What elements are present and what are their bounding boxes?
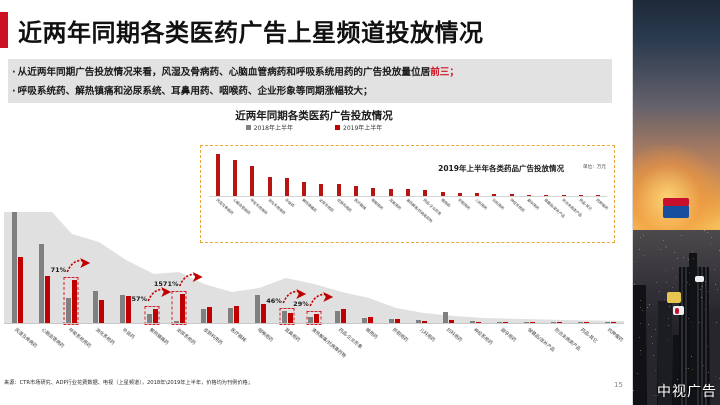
window-light: [676, 276, 677, 277]
window-light: [640, 323, 641, 324]
window-light: [637, 373, 638, 374]
inset-bar-group: [330, 152, 347, 196]
brand-watermark: 中视广告: [657, 381, 717, 401]
window-light: [653, 355, 654, 356]
x-axis-label: 肝胆用药: [381, 326, 408, 372]
billboard-blue: [663, 205, 689, 218]
window-light: [699, 322, 700, 323]
source-footnote: 来源：CTR市场研究、ADP行业花费数据、电视（上星频道），2018年\2019…: [4, 379, 253, 386]
window-light: [677, 258, 678, 259]
x-axis-label: 耳鼻用药: [274, 326, 301, 372]
bar-group: [85, 212, 112, 323]
billboard-white-2: [695, 276, 704, 282]
bullet-marker-icon-2: ·: [12, 86, 16, 97]
window-light: [674, 252, 675, 253]
inset-bar-group: [417, 152, 434, 196]
inset-bar-group: [486, 152, 503, 196]
inset-bar-group: [572, 152, 589, 196]
growth-pct-label: 1571%: [154, 280, 179, 288]
window-light: [688, 368, 689, 369]
inset-x-axis-label-text: 抗肿瘤药: [595, 198, 609, 211]
x-axis-label: 保健品/滋补产品: [516, 326, 543, 372]
window-light: [692, 251, 693, 252]
bar-group: [408, 212, 435, 323]
x-axis-label: 药品-企业形象: [327, 326, 354, 372]
inset-bar-group: [451, 152, 468, 196]
bar-group: [597, 212, 624, 323]
inset-bar: [302, 182, 306, 196]
bar-group: [327, 212, 354, 323]
inset-bar-group: [590, 152, 607, 196]
inset-bar-group: [244, 152, 261, 196]
growth-pct-label: 57%: [131, 295, 147, 303]
window-light: [705, 281, 706, 282]
x-axis-label-text: 补益药: [121, 327, 135, 340]
sunset-glow: [633, 145, 720, 235]
inset-bar: [319, 184, 323, 196]
x-axis-label: 神经系统药: [462, 326, 489, 372]
main-x-axis-labels: 风湿及骨病药心脑血管病药呼吸系统用药消化系统药补益药解热镇痛药泌尿系统药皮肤科用…: [4, 326, 624, 372]
bullet-item-2: ·呼吸系统药、解热镇痛和泌尿系统、耳鼻用药、咽喉药、企业形象等同期涨幅较大；: [12, 82, 606, 101]
window-light: [640, 354, 641, 355]
billboard-red: [663, 198, 689, 206]
x-axis-label: 呼吸系统用药: [58, 326, 85, 372]
page-title: 近两年同期各类医药广告上星频道投放情况: [0, 12, 484, 48]
summary-box: ·从近两年同期广告投放情况来看，风湿及骨病药、心脑血管病药和呼吸系统用药的广告投…: [8, 59, 612, 103]
inset-bar: [354, 186, 358, 196]
bullet-highlight-1: 前三；: [430, 67, 459, 78]
window-light: [691, 356, 692, 357]
x-axis-label-text: 咽喉用药: [256, 327, 274, 343]
window-light: [666, 247, 667, 248]
window-light: [693, 258, 694, 259]
bar-group: 57%: [139, 212, 166, 323]
bar-2019: [234, 306, 239, 323]
inset-bar-group: [399, 152, 416, 196]
x-axis-label-text: 肝胆用药: [391, 327, 409, 343]
bar-2019: [126, 296, 131, 323]
window-light: [704, 309, 705, 310]
window-light: [652, 343, 653, 344]
x-axis-label: 儿科用药: [408, 326, 435, 372]
window-light: [640, 350, 641, 351]
x-axis-label: 抗肿瘤药: [597, 326, 624, 372]
plot-area: 71%57%1571%46%29%: [4, 212, 624, 324]
bullet-text-1: 从近两年同期广告投放情况来看，风湿及骨病药、心脑血管病药和呼吸系统用药的广告投放…: [18, 67, 431, 78]
bullet-item-1: ·从近两年同期广告投放情况来看，风湿及骨病药、心脑血管病药和呼吸系统用药的广告投…: [12, 63, 606, 82]
window-light: [704, 230, 705, 231]
window-light: [640, 300, 641, 301]
bar-2018: [12, 212, 17, 323]
slide-title-text: 近两年同期各类医药广告上星频道投放情况: [18, 13, 484, 48]
x-axis-label: 补益药: [112, 326, 139, 372]
window-light: [675, 278, 676, 279]
inset-bar: [406, 189, 410, 196]
window-light: [672, 268, 673, 269]
inset-bar-group: [295, 152, 312, 196]
x-axis-label: 解热镇痛药: [139, 326, 166, 372]
window-light: [714, 269, 715, 270]
window-light: [708, 372, 709, 373]
growth-pct-label: 46%: [266, 297, 282, 305]
main-axis-line: [4, 323, 624, 324]
window-light: [672, 287, 673, 288]
x-axis-label-text: 耳鼻用药: [283, 327, 301, 343]
x-axis-label: 医疗器械: [220, 326, 247, 372]
inset-bar-group: [382, 152, 399, 196]
window-light: [655, 329, 656, 330]
bullet-text-2: 呼吸系统药、解热镇痛和泌尿系统、耳鼻用药、咽喉药、企业形象等同期涨幅较大；: [18, 86, 373, 97]
bar-group: [489, 212, 516, 323]
window-light: [705, 285, 706, 286]
x-axis-label: 消化系统药: [85, 326, 112, 372]
slide-root: 近两年同期各类医药广告上星频道投放情况 ·从近两年同期广告投放情况来看，风湿及骨…: [0, 0, 720, 405]
inset-bar: [268, 177, 272, 196]
building: [647, 319, 657, 405]
highlight-box: [172, 291, 187, 325]
window-light: [648, 324, 649, 325]
window-light: [651, 336, 652, 337]
window-light: [668, 325, 669, 326]
window-light: [688, 259, 689, 260]
inset-bar: [250, 166, 254, 196]
window-light: [656, 282, 657, 283]
legend-swatch-2018: [246, 125, 251, 130]
window-light: [654, 395, 655, 396]
bullet-marker-icon: ·: [12, 67, 16, 78]
window-light: [659, 291, 660, 292]
window-light: [702, 286, 703, 287]
inset-bar: [233, 160, 237, 196]
inset-bar-group: [209, 152, 226, 196]
window-light: [642, 310, 643, 311]
bar-group: 71%: [58, 212, 85, 323]
inset-bar-group: [347, 152, 364, 196]
inset-bar: [389, 189, 393, 196]
bar-group: [220, 212, 247, 323]
bar-2019: [261, 304, 266, 323]
window-light: [698, 279, 699, 280]
bar-group: 29%: [300, 212, 327, 323]
window-light: [666, 282, 667, 283]
window-light: [689, 284, 690, 285]
window-light: [691, 322, 692, 323]
bar-2018: [39, 244, 44, 323]
bar-group: [354, 212, 381, 323]
bar-2019: [341, 309, 346, 323]
x-axis-label-text: 妇科用药: [445, 327, 463, 343]
bar-group: [4, 212, 31, 323]
legend-label-2018: 2018年上半年: [254, 123, 293, 132]
window-light: [683, 257, 684, 258]
window-light: [633, 390, 634, 391]
bar-group: [381, 212, 408, 323]
x-axis-label-text: 医疗器械: [229, 327, 247, 343]
inset-bar: [285, 178, 289, 196]
window-light: [708, 291, 709, 292]
window-light: [715, 284, 716, 285]
bar-group: [462, 212, 489, 323]
inset-x-axis-label-text: 补益药: [283, 198, 294, 209]
inset-bar-group: [434, 152, 451, 196]
legend-item-2018: 2018年上半年: [246, 123, 293, 132]
x-axis-label: 咽喉用药: [247, 326, 274, 372]
x-axis-label-text: 抗肿瘤药: [607, 327, 625, 343]
window-light: [644, 255, 645, 256]
inset-bar-group: [365, 152, 382, 196]
inset-bar: [337, 184, 341, 196]
legend-label-2019: 2019年上半年: [343, 123, 382, 132]
window-light: [711, 244, 712, 245]
window-light: [707, 346, 708, 347]
growth-pct-label: 29%: [293, 300, 309, 308]
window-light: [692, 326, 693, 327]
bar-2018: [120, 295, 125, 323]
inset-bar: [371, 188, 375, 196]
decorative-city-photo: 中视广告: [633, 0, 720, 405]
window-light: [707, 232, 708, 233]
window-light: [681, 235, 682, 236]
window-light: [711, 237, 712, 238]
x-axis-label: 泌尿系统药: [166, 326, 193, 372]
bar-2019: [45, 276, 50, 323]
window-light: [709, 257, 710, 258]
legend-swatch-2019: [335, 125, 340, 130]
window-light: [681, 299, 682, 300]
inset-x-axis-label-text: 眼用药: [439, 198, 450, 209]
window-light: [668, 318, 669, 319]
bar-2018: [93, 291, 98, 323]
window-light: [664, 299, 665, 300]
bar-2018: [335, 311, 340, 323]
window-light: [709, 302, 710, 303]
growth-pct-label: 71%: [51, 266, 67, 274]
x-axis-label: 妇科用药: [435, 326, 462, 372]
chart-title: 近两年同期各类医药广告投放情况: [0, 108, 628, 123]
inset-bar-group: [468, 152, 485, 196]
window-light: [703, 365, 704, 366]
window-light: [692, 369, 693, 370]
inset-bar-group: [503, 152, 520, 196]
window-light: [717, 289, 718, 290]
window-light: [640, 237, 641, 238]
inset-bar-group: [520, 152, 537, 196]
bar-group: [543, 212, 570, 323]
window-light: [663, 240, 664, 241]
window-light: [640, 307, 641, 308]
window-light: [665, 246, 666, 247]
x-axis-label: 药品-其它: [570, 326, 597, 372]
window-light: [639, 249, 640, 250]
inset-bar-group: [313, 152, 330, 196]
bar-2018: [201, 309, 206, 323]
page-number: 15: [614, 381, 623, 389]
inset-bar-group: [261, 152, 278, 196]
highlight-box: [64, 277, 79, 325]
window-light: [660, 249, 661, 250]
chart-legend: 2018年上半年 2019年上半年: [0, 123, 628, 132]
window-light: [687, 282, 688, 283]
bar-group: [193, 212, 220, 323]
main-chart: 近两年同期各类医药广告投放情况 2018年上半年 2019年上半年 2019年上…: [0, 108, 628, 363]
billboard-red-small: [675, 308, 679, 314]
bar-2018: [443, 312, 448, 323]
window-light: [700, 289, 701, 290]
title-accent-bar: [0, 12, 8, 48]
bar-group: [516, 212, 543, 323]
window-light: [634, 284, 635, 285]
x-axis-label: 防治未病类产品: [543, 326, 570, 372]
x-axis-label-text: 避孕用药: [499, 327, 517, 343]
x-axis-label: 眼用药: [354, 326, 381, 372]
window-light: [655, 370, 656, 371]
x-axis-label-text: 药品-其它: [580, 327, 599, 344]
window-light: [689, 272, 690, 273]
bar-group: [247, 212, 274, 323]
window-light: [634, 261, 635, 262]
inset-bar-group: [538, 152, 555, 196]
window-light: [686, 368, 687, 369]
x-axis-label: 皮肤科用药: [193, 326, 220, 372]
window-light: [701, 297, 702, 298]
bar-2018: [255, 295, 260, 323]
inset-bar-group: [555, 152, 572, 196]
window-light: [639, 337, 640, 338]
x-axis-label: 心脑血管病药: [31, 326, 58, 372]
window-light: [668, 339, 669, 340]
window-light: [649, 304, 650, 305]
inset-bar: [216, 154, 220, 196]
window-light: [647, 307, 648, 308]
building: [633, 285, 646, 405]
inset-plot-area: [209, 152, 607, 197]
main-bar-series: 71%57%1571%46%29%: [4, 212, 624, 323]
bar-group: [435, 212, 462, 323]
window-light: [665, 270, 666, 271]
inset-axis-line: [209, 196, 607, 197]
legend-item-2019: 2019年上半年: [335, 123, 382, 132]
inset-bar-group: [226, 152, 243, 196]
window-light: [643, 235, 644, 236]
bar-group: 1571%: [166, 212, 193, 323]
x-axis-label: 清热解毒/抗病毒药物: [300, 326, 327, 372]
inset-bar-series: [209, 152, 607, 196]
window-light: [715, 376, 716, 377]
window-light: [669, 306, 670, 307]
bar-2019: [18, 257, 23, 323]
cityscape: [633, 230, 720, 405]
inset-bar-group: [278, 152, 295, 196]
x-axis-label-text: 眼用药: [364, 327, 378, 340]
window-light: [716, 322, 717, 323]
bar-group: [112, 212, 139, 323]
bar-group: [570, 212, 597, 323]
window-light: [677, 379, 678, 380]
x-axis-label: 风湿及骨病药: [4, 326, 31, 372]
billboard-yellow: [667, 292, 681, 303]
bar-2019: [99, 300, 104, 323]
window-light: [688, 318, 689, 319]
x-axis-label-text: 儿科用药: [418, 327, 436, 343]
bar-2018: [228, 308, 233, 323]
bar-2019: [207, 307, 212, 323]
x-axis-label: 避孕用药: [489, 326, 516, 372]
